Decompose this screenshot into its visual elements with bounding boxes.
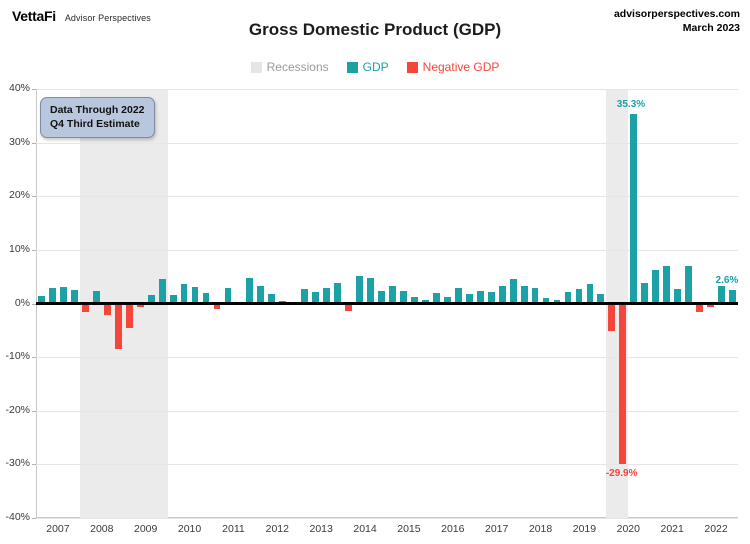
x-axis-label: 2008	[80, 523, 124, 535]
y-axis-tick	[32, 250, 36, 251]
y-axis-tick	[32, 518, 36, 519]
x-axis-label: 2010	[168, 523, 212, 535]
gdp-bar[interactable]	[652, 270, 659, 304]
gridline	[36, 464, 738, 465]
y-axis-tick	[32, 464, 36, 465]
y-axis-label: 0%	[0, 297, 30, 309]
bar-data-label: 35.3%	[617, 99, 645, 110]
y-axis-tick	[32, 89, 36, 90]
gdp-bar[interactable]	[521, 286, 528, 304]
x-axis-label: 2018	[519, 523, 563, 535]
callout-line-1: Data Through 2022	[50, 103, 145, 117]
legend-label: Recessions	[267, 60, 329, 74]
y-axis-label: 20%	[0, 189, 30, 201]
y-axis-label: 10%	[0, 243, 30, 255]
y-axis-label: -30%	[0, 457, 30, 469]
gdp-bar[interactable]	[499, 286, 506, 303]
chart-legend: RecessionsGDPNegative GDP	[0, 60, 750, 74]
legend-label: Negative GDP	[423, 60, 500, 74]
gdp-bar[interactable]	[159, 279, 166, 303]
x-axis-label: 2007	[36, 523, 80, 535]
gdp-bar[interactable]	[389, 286, 396, 304]
chart-page: VettaFi Advisor Perspectives advisorpers…	[0, 0, 750, 544]
y-axis-label: -20%	[0, 404, 30, 416]
gdp-bar[interactable]	[104, 304, 111, 315]
bar-data-label: 2.6%	[716, 275, 739, 286]
gdp-bar[interactable]	[246, 278, 253, 303]
y-axis-label: 30%	[0, 136, 30, 148]
x-axis-label: 2009	[124, 523, 168, 535]
gdp-bar[interactable]	[126, 304, 133, 329]
gdp-bar[interactable]	[619, 304, 626, 464]
legend-swatch-icon	[347, 62, 358, 73]
x-axis-label: 2016	[431, 523, 475, 535]
gdp-bar[interactable]	[257, 286, 264, 303]
x-axis-label: 2019	[562, 523, 606, 535]
gdp-bar[interactable]	[718, 286, 725, 303]
bar-data-label: -29.9%	[606, 468, 638, 479]
y-axis-tick	[32, 196, 36, 197]
y-axis-tick	[32, 143, 36, 144]
x-axis-label: 2013	[299, 523, 343, 535]
y-axis-tick	[32, 357, 36, 358]
legend-swatch-icon	[407, 62, 418, 73]
gdp-bar[interactable]	[608, 304, 615, 331]
x-axis-label: 2022	[694, 523, 738, 535]
legend-item-gdp[interactable]: GDP	[347, 60, 389, 74]
legend-item-recessions[interactable]: Recessions	[251, 60, 329, 74]
zero-axis-line	[36, 302, 738, 305]
y-axis-label: -40%	[0, 511, 30, 523]
gdp-bar[interactable]	[630, 114, 637, 303]
callout-line-2: Q4 Third Estimate	[50, 117, 145, 131]
legend-label: GDP	[363, 60, 389, 74]
gridline	[36, 518, 738, 519]
gdp-bar[interactable]	[181, 284, 188, 304]
legend-item-negative-gdp[interactable]: Negative GDP	[407, 60, 500, 74]
x-axis-label: 2017	[475, 523, 519, 535]
y-axis-label: 40%	[0, 82, 30, 94]
x-axis-label: 2021	[650, 523, 694, 535]
x-axis-label: 2014	[343, 523, 387, 535]
gridline	[36, 357, 738, 358]
gdp-bar[interactable]	[663, 266, 670, 304]
x-axis-label: 2020	[606, 523, 650, 535]
gdp-bar[interactable]	[115, 304, 122, 350]
gdp-bar[interactable]	[641, 283, 648, 304]
gdp-bar[interactable]	[587, 284, 594, 303]
x-axis-label: 2011	[211, 523, 255, 535]
y-axis-label: -10%	[0, 350, 30, 362]
gdp-bar[interactable]	[510, 279, 517, 304]
gridline	[36, 89, 738, 90]
gdp-bar[interactable]	[356, 276, 363, 304]
gdp-bar[interactable]	[367, 278, 374, 304]
site-url: advisorperspectives.com	[614, 7, 740, 21]
gridline	[36, 411, 738, 412]
x-axis-label: 2012	[255, 523, 299, 535]
gdp-bar[interactable]	[334, 283, 341, 303]
gdp-bar[interactable]	[685, 266, 692, 304]
legend-swatch-icon	[251, 62, 262, 73]
page-title: Gross Domestic Product (GDP)	[0, 20, 750, 40]
y-axis-tick	[32, 411, 36, 412]
x-axis-label: 2015	[387, 523, 431, 535]
plot-area: 40%30%20%10%0%-10%-20%-30%-40%35.3%-29.9…	[36, 89, 738, 518]
data-through-callout: Data Through 2022 Q4 Third Estimate	[40, 97, 155, 138]
